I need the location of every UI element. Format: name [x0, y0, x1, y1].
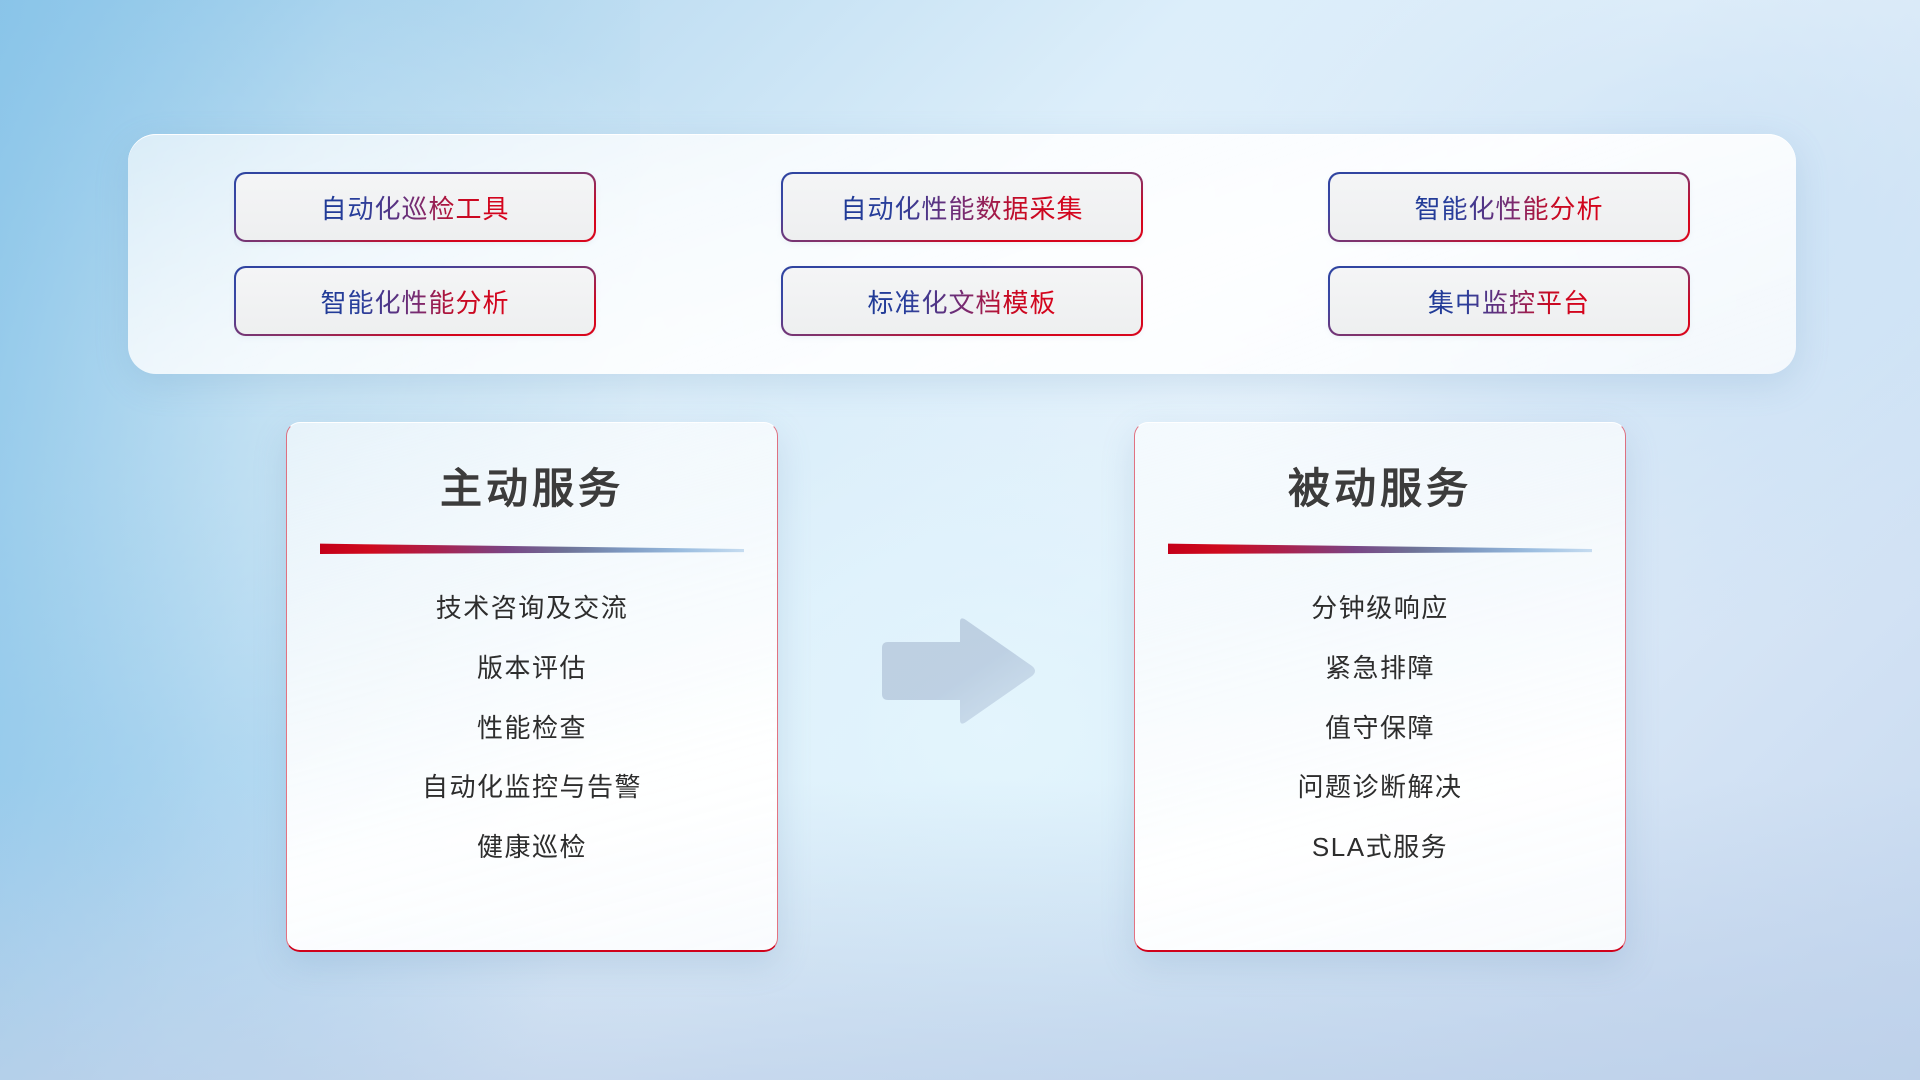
list-item: 问题诊断解决: [1297, 771, 1462, 805]
capability-pill-label: 自动化性能数据采集: [840, 189, 1083, 226]
arrow-right-icon: [876, 616, 1038, 726]
capability-pill-auto-inspection-tool[interactable]: 自动化巡检工具: [236, 174, 594, 240]
list-item: SLA式服务: [1312, 831, 1448, 865]
capability-pill-intelligent-performance-analysis[interactable]: 智能化性能分析: [1330, 174, 1688, 240]
capability-pill-standard-doc-template[interactable]: 标准化文档模板: [783, 268, 1141, 334]
capability-pill-centralized-monitoring-platform[interactable]: 集中监控平台: [1330, 268, 1688, 334]
card-divider-wedge: [320, 542, 744, 554]
capability-pill-auto-performance-collection[interactable]: 自动化性能数据采集: [783, 174, 1141, 240]
service-card-active: 主动服务 技术咨询及交流 版本评估 性能检查 自动化监控与告警 健康巡检: [286, 422, 778, 952]
card-divider: [1168, 542, 1592, 554]
capability-pill-label: 集中监控平台: [1428, 283, 1590, 320]
capability-pill-label: 智能化性能分析: [320, 283, 509, 320]
service-list-passive: 分钟级响应 紧急排障 值守保障 问题诊断解决 SLA式服务: [1135, 592, 1625, 865]
list-item: 版本评估: [477, 652, 587, 686]
diagram-canvas: 自动化巡检工具 自动化性能数据采集 智能化性能分析 智能化性能分析 标准化文档模…: [0, 0, 1920, 1080]
capability-pill-label: 自动化巡检工具: [320, 189, 509, 226]
service-list-active: 技术咨询及交流 版本评估 性能检查 自动化监控与告警 健康巡检: [287, 592, 777, 865]
card-divider: [320, 542, 744, 554]
list-item: 健康巡检: [477, 831, 587, 865]
capability-row-2: 智能化性能分析 标准化文档模板 集中监控平台: [168, 268, 1756, 334]
card-divider-wedge: [1168, 542, 1592, 554]
capability-pill-label: 标准化文档模板: [867, 283, 1056, 320]
capability-pill-intelligent-performance-analysis-2[interactable]: 智能化性能分析: [236, 268, 594, 334]
list-item: 技术咨询及交流: [436, 592, 629, 626]
capability-panel: 自动化巡检工具 自动化性能数据采集 智能化性能分析 智能化性能分析 标准化文档模…: [128, 134, 1796, 374]
service-card-passive: 被动服务 分钟级响应 紧急排障 值守保障 问题诊断解决 SLA式服务: [1134, 422, 1626, 952]
capability-pill-label: 智能化性能分析: [1414, 189, 1603, 226]
list-item: 紧急排障: [1325, 652, 1435, 686]
list-item: 自动化监控与告警: [422, 771, 642, 805]
list-item: 性能检查: [477, 712, 587, 746]
list-item: 值守保障: [1325, 712, 1435, 746]
card-title: 主动服务: [287, 455, 777, 516]
list-item: 分钟级响应: [1311, 592, 1449, 626]
capability-row-1: 自动化巡检工具 自动化性能数据采集 智能化性能分析: [168, 174, 1756, 240]
card-title: 被动服务: [1135, 455, 1625, 516]
